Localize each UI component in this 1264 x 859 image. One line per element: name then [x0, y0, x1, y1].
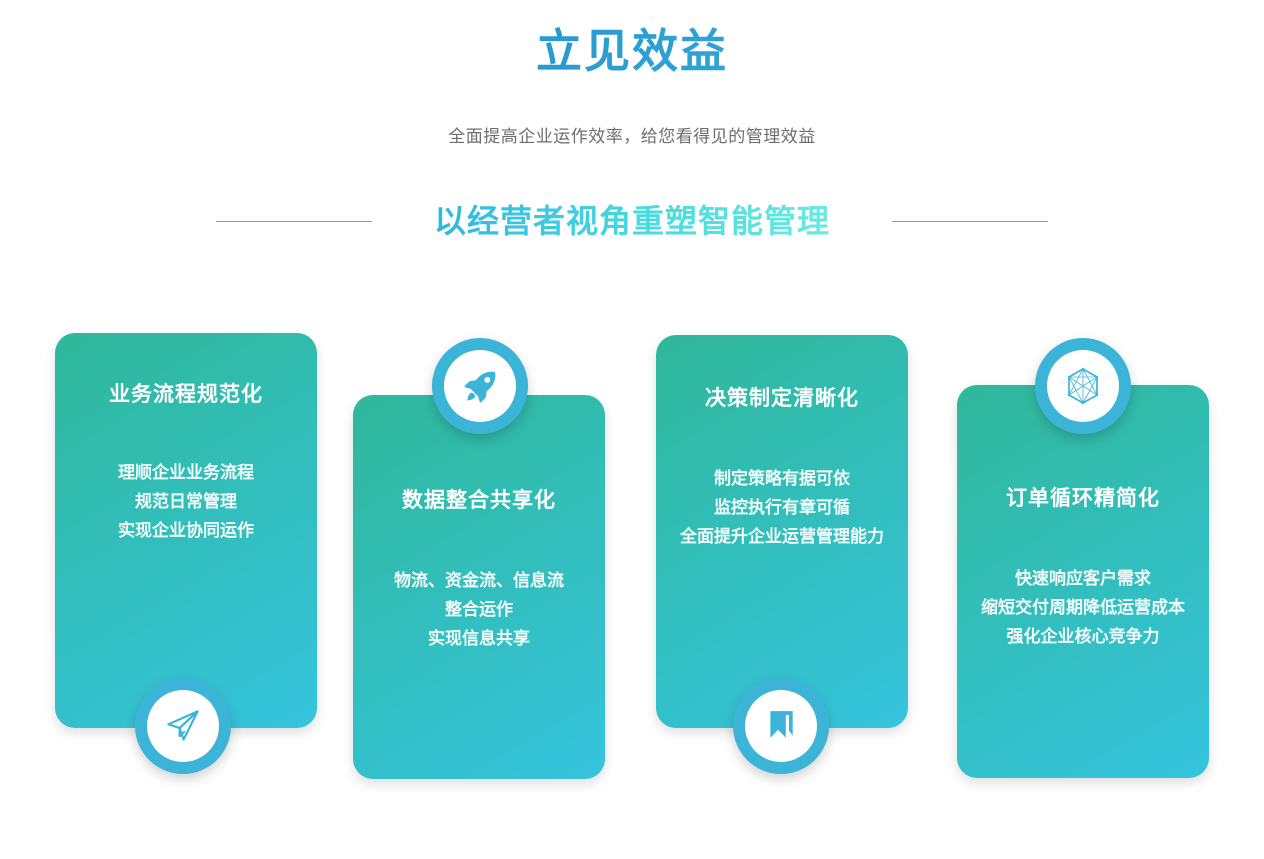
- card-inner: 业务流程规范化 理顺企业业务流程 规范日常管理 实现企业协同运作: [55, 333, 317, 728]
- benefit-card-order-cycle[interactable]: 订单循环精简化 快速响应客户需求 缩短交付周期降低运营成本 强化企业核心竞争力: [957, 385, 1209, 778]
- card-title: 数据整合共享化: [353, 484, 605, 514]
- icon-disc: [147, 690, 219, 762]
- card-inner: 决策制定清晰化 制定策略有据可依 监控执行有章可循 全面提升企业运营管理能力: [656, 335, 908, 728]
- paper-plane-icon: [165, 708, 201, 744]
- rocket-icon: [462, 368, 498, 404]
- card-title: 决策制定清晰化: [656, 382, 908, 412]
- card-body: 制定策略有据可依 监控执行有章可循 全面提升企业运营管理能力: [656, 464, 908, 551]
- card-icon-badge-data-integration: [432, 338, 528, 434]
- card-icon-badge-decision-making: [733, 678, 829, 774]
- bookmark-icon: [764, 709, 798, 743]
- card-body: 快速响应客户需求 缩短交付周期降低运营成本 强化企业核心竞争力: [957, 564, 1209, 651]
- card-title: 业务流程规范化: [55, 378, 317, 408]
- benefit-card-decision-making[interactable]: 决策制定清晰化 制定策略有据可依 监控执行有章可循 全面提升企业运营管理能力: [656, 335, 908, 728]
- hexagon-network-icon: [1063, 366, 1103, 406]
- benefit-card-data-integration[interactable]: 数据整合共享化 物流、资金流、信息流 整合运作 实现信息共享: [353, 395, 605, 779]
- icon-disc: [1047, 350, 1119, 422]
- card-icon-badge-business-process: [135, 678, 231, 774]
- card-body: 物流、资金流、信息流 整合运作 实现信息共享: [353, 566, 605, 653]
- card-title: 订单循环精简化: [957, 482, 1209, 512]
- card-icon-badge-order-cycle: [1035, 338, 1131, 434]
- benefit-cards-area: 业务流程规范化 理顺企业业务流程 规范日常管理 实现企业协同运作 数据整合共享化…: [0, 0, 1264, 859]
- card-inner: 数据整合共享化 物流、资金流、信息流 整合运作 实现信息共享: [353, 395, 605, 779]
- icon-disc: [745, 690, 817, 762]
- benefit-card-business-process[interactable]: 业务流程规范化 理顺企业业务流程 规范日常管理 实现企业协同运作: [55, 333, 317, 728]
- card-inner: 订单循环精简化 快速响应客户需求 缩短交付周期降低运营成本 强化企业核心竞争力: [957, 385, 1209, 778]
- card-body: 理顺企业业务流程 规范日常管理 实现企业协同运作: [55, 458, 317, 545]
- icon-disc: [444, 350, 516, 422]
